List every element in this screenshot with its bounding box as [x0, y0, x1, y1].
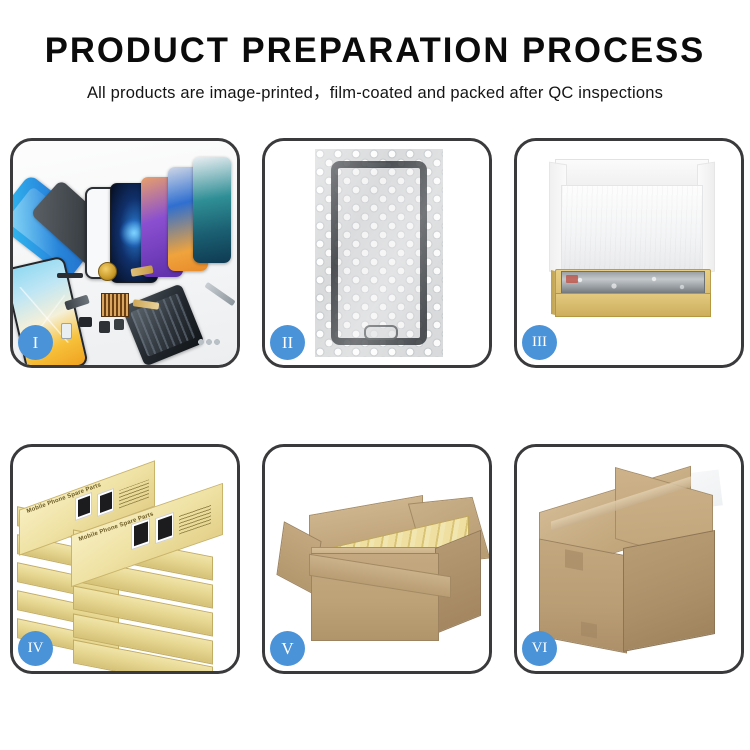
phone-screen-teal [193, 157, 231, 263]
process-step-panel-3[interactable]: III [514, 138, 744, 368]
part-connector-1 [79, 317, 92, 327]
page-header: PRODUCT PREPARATION PROCESS All products… [0, 0, 750, 105]
box-tray-front [555, 293, 711, 317]
part-speaker-bar [57, 273, 83, 278]
part-screws [198, 337, 220, 347]
process-step-panel-2[interactable]: II [262, 138, 492, 368]
process-step-grid: I II [10, 138, 740, 678]
process-step-panel-4[interactable]: Mobile Phone Spare Parts Mobile Phone Sp… [10, 444, 240, 674]
step-badge-5: V [270, 631, 305, 666]
phone-internal-board [121, 283, 204, 365]
process-step-panel-6[interactable]: VI [514, 444, 744, 674]
step-badge-2: II [270, 325, 305, 360]
process-step-panel-1[interactable]: I [10, 138, 240, 368]
step-badge-3: III [522, 325, 557, 360]
page-subtitle: All products are image-printed，film-coat… [0, 81, 750, 105]
step-badge-6: VI [522, 631, 557, 666]
bubble-wrap-sheet [315, 149, 443, 357]
sealed-carton-right-face [623, 530, 715, 652]
process-step-panel-5[interactable]: V [262, 444, 492, 674]
part-connector-2 [99, 321, 110, 333]
part-tweezers [204, 282, 235, 306]
phone-glass-lens [331, 161, 427, 345]
step-badge-1: I [18, 325, 53, 360]
part-chip-grid [101, 293, 129, 317]
carton-hand-hole-bottom [581, 621, 597, 638]
part-vibration-motor [98, 262, 117, 281]
carton-hand-hole-top [565, 549, 583, 570]
step-badge-4: IV [18, 631, 53, 666]
foam-padding [561, 185, 703, 271]
part-connector-3 [114, 319, 124, 330]
part-sim-tray [61, 323, 72, 339]
page-title: PRODUCT PREPARATION PROCESS [4, 30, 747, 72]
